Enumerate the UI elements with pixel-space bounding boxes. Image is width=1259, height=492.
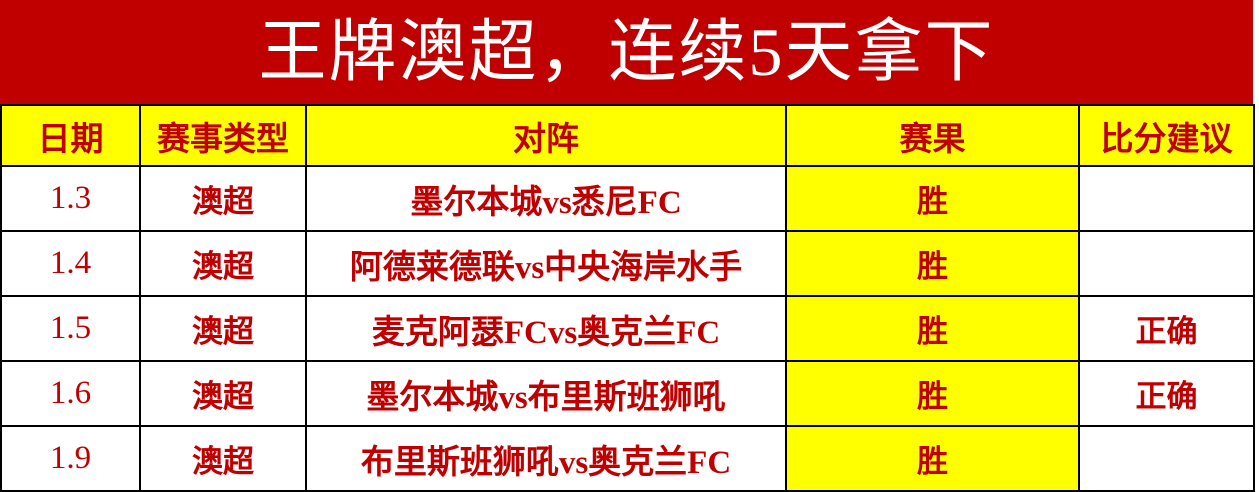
cell-match: 阿德莱德联vs中央海岸水手 — [306, 231, 786, 296]
table-row: 1.9 澳超 布里斯班狮吼vs奥克兰FC 胜 — [1, 426, 1254, 491]
cell-type: 澳超 — [140, 296, 306, 361]
cell-type: 澳超 — [140, 166, 306, 231]
cell-date: 1.4 — [1, 231, 140, 296]
column-header-match: 对阵 — [306, 105, 786, 166]
title-banner: 王牌澳超，连续5天拿下 — [0, 0, 1253, 104]
cell-type: 澳超 — [140, 361, 306, 426]
match-table: 日期 赛事类型 对阵 赛果 比分建议 1.3 澳超 墨尔本城vs悉尼FC 胜 1… — [0, 104, 1255, 492]
cell-match: 墨尔本城vs布里斯班狮吼 — [306, 361, 786, 426]
cell-type: 澳超 — [140, 231, 306, 296]
table-row: 1.3 澳超 墨尔本城vs悉尼FC 胜 — [1, 166, 1254, 231]
cell-result: 胜 — [786, 231, 1079, 296]
cell-date: 1.3 — [1, 166, 140, 231]
cell-match: 麦克阿瑟FCvs奥克兰FC — [306, 296, 786, 361]
table-header: 日期 赛事类型 对阵 赛果 比分建议 — [1, 105, 1254, 166]
cell-score — [1079, 166, 1254, 231]
cell-result: 胜 — [786, 296, 1079, 361]
column-header-type: 赛事类型 — [140, 105, 306, 166]
cell-date: 1.9 — [1, 426, 140, 491]
cell-match: 墨尔本城vs悉尼FC — [306, 166, 786, 231]
cell-result: 胜 — [786, 166, 1079, 231]
cell-date: 1.6 — [1, 361, 140, 426]
column-header-date: 日期 — [1, 105, 140, 166]
table-body: 1.3 澳超 墨尔本城vs悉尼FC 胜 1.4 澳超 阿德莱德联vs中央海岸水手… — [1, 166, 1254, 491]
cell-match: 布里斯班狮吼vs奥克兰FC — [306, 426, 786, 491]
cell-score: 正确 — [1079, 361, 1254, 426]
cell-score: 正确 — [1079, 296, 1254, 361]
cell-result: 胜 — [786, 361, 1079, 426]
cell-score — [1079, 426, 1254, 491]
cell-score — [1079, 231, 1254, 296]
table-row: 1.5 澳超 麦克阿瑟FCvs奥克兰FC 胜 正确 — [1, 296, 1254, 361]
cell-result: 胜 — [786, 426, 1079, 491]
match-table-container: 日期 赛事类型 对阵 赛果 比分建议 1.3 澳超 墨尔本城vs悉尼FC 胜 1… — [0, 104, 1253, 491]
column-header-score: 比分建议 — [1079, 105, 1254, 166]
column-header-result: 赛果 — [786, 105, 1079, 166]
page-title: 王牌澳超，连续5天拿下 — [258, 18, 994, 86]
table-row: 1.6 澳超 墨尔本城vs布里斯班狮吼 胜 正确 — [1, 361, 1254, 426]
table-row: 1.4 澳超 阿德莱德联vs中央海岸水手 胜 — [1, 231, 1254, 296]
cell-date: 1.5 — [1, 296, 140, 361]
table-header-row: 日期 赛事类型 对阵 赛果 比分建议 — [1, 105, 1254, 166]
cell-type: 澳超 — [140, 426, 306, 491]
page-root: 王牌澳超，连续5天拿下 日期 赛事类型 对阵 赛果 比分建议 — [0, 0, 1259, 491]
